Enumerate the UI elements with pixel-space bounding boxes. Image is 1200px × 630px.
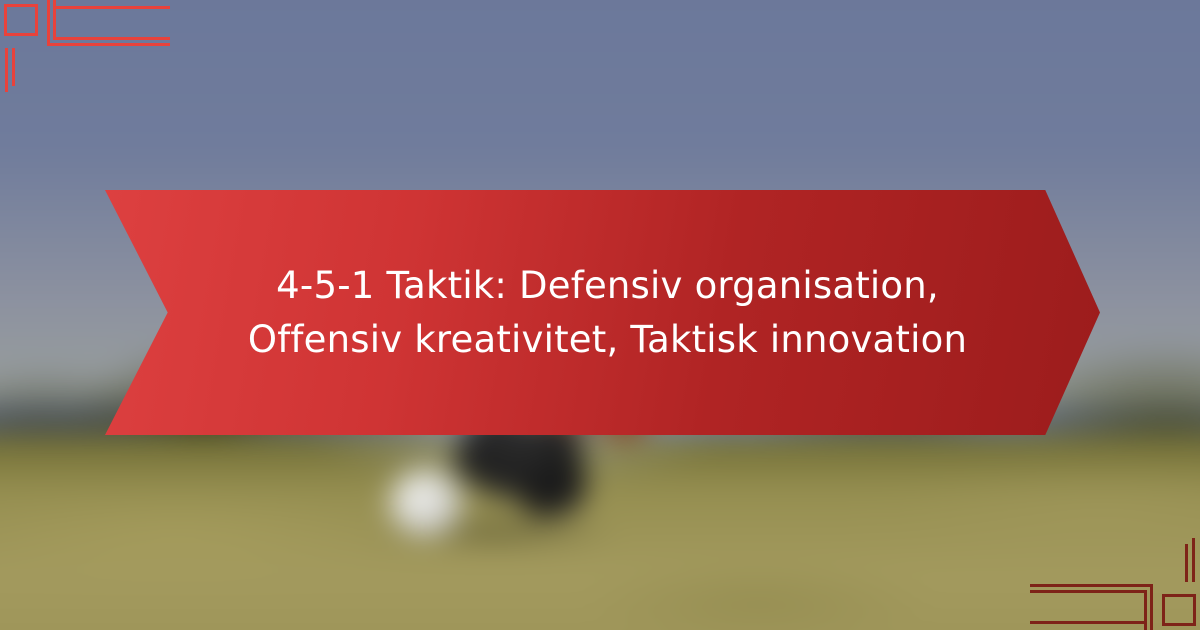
corner-square-top-edge xyxy=(4,4,38,7)
poster-canvas: 4-5-1 Taktik: Defensiv organisation, Off… xyxy=(0,0,1200,630)
headline-banner: 4-5-1 Taktik: Defensiv organisation, Off… xyxy=(105,190,1100,435)
corner-bracket-inner-horizontal xyxy=(1030,584,1153,587)
corner-bracket-inner-horizontal xyxy=(47,43,170,46)
corner-top-rule xyxy=(55,6,170,9)
corner-bracket-inner-vertical xyxy=(1150,584,1153,630)
corner-bottom-rule xyxy=(1030,621,1145,624)
corner-decoration-top-left xyxy=(0,0,170,92)
corner-square-bottom-edge xyxy=(4,33,38,36)
corner-bracket-outer-horizontal xyxy=(1030,590,1147,593)
corner-side-rule-outer xyxy=(1192,538,1195,582)
corner-square-top-edge xyxy=(1162,594,1196,597)
corner-square-left-edge xyxy=(4,4,7,36)
corner-bracket-outer-horizontal xyxy=(53,37,170,40)
corner-side-rule-inner xyxy=(12,48,15,86)
corner-square-right-edge xyxy=(35,4,38,36)
soccer-ball xyxy=(390,470,462,536)
corner-square-bottom-edge xyxy=(1162,623,1196,626)
corner-bracket-inner-vertical xyxy=(47,0,50,46)
headline-text: 4-5-1 Taktik: Defensiv organisation, Off… xyxy=(173,259,1033,366)
corner-side-rule-outer xyxy=(5,48,8,92)
corner-bracket-outer-vertical xyxy=(1144,590,1147,630)
corner-square-right-edge xyxy=(1193,594,1196,626)
corner-decoration-bottom-right xyxy=(1030,538,1200,630)
corner-side-rule-inner xyxy=(1185,544,1188,582)
corner-square-left-edge xyxy=(1162,594,1165,626)
